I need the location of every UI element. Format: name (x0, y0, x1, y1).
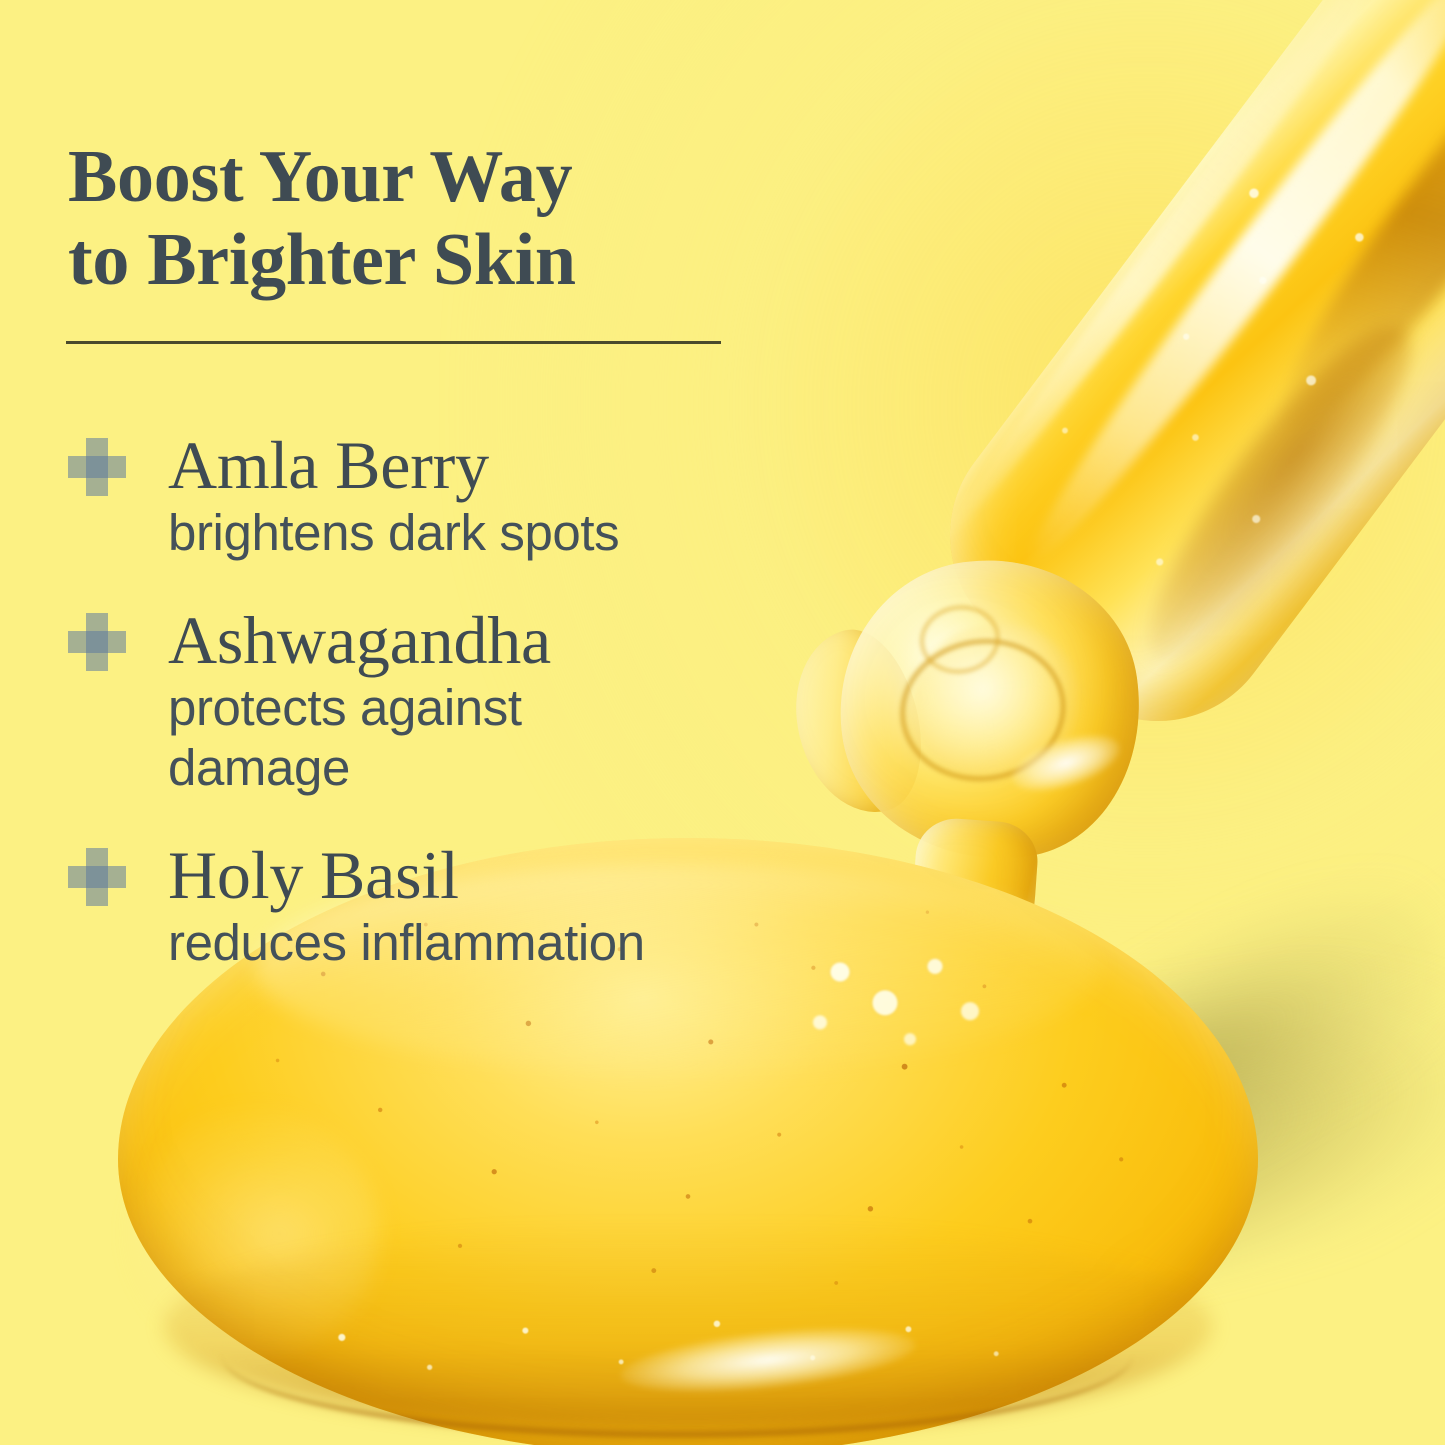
plus-icon-horizontal-bar (68, 866, 126, 888)
headline-line-2: to Brighter Skin (68, 219, 808, 303)
plus-icon (68, 438, 126, 496)
headline: Boost Your Way to Brighter Skin (68, 136, 808, 303)
plus-icon (68, 613, 126, 671)
benefit-title: Amla Berry (168, 430, 900, 501)
benefit-list: Amla Berry brightens dark spots Ashwagan… (0, 430, 900, 973)
benefit-item-amla-berry: Amla Berry brightens dark spots (0, 430, 900, 563)
benefit-description: brightens dark spots (168, 503, 698, 563)
benefit-description: protects against damage (168, 678, 698, 798)
product-benefit-card: Boost Your Way to Brighter Skin Amla Ber… (0, 0, 1445, 1445)
headline-line-1: Boost Your Way (68, 136, 808, 220)
headline-divider (66, 341, 721, 344)
plus-icon (68, 848, 126, 906)
text-content: Boost Your Way to Brighter Skin Amla Ber… (0, 0, 1445, 1445)
benefit-description: reduces inflammation (168, 913, 868, 973)
benefit-item-ashwagandha: Ashwagandha protects against damage (0, 605, 900, 798)
plus-icon-horizontal-bar (68, 631, 126, 653)
benefit-item-holy-basil: Holy Basil reduces inflammation (0, 840, 900, 973)
benefit-title: Ashwagandha (168, 605, 900, 676)
benefit-title: Holy Basil (168, 840, 900, 911)
plus-icon-horizontal-bar (68, 456, 126, 478)
